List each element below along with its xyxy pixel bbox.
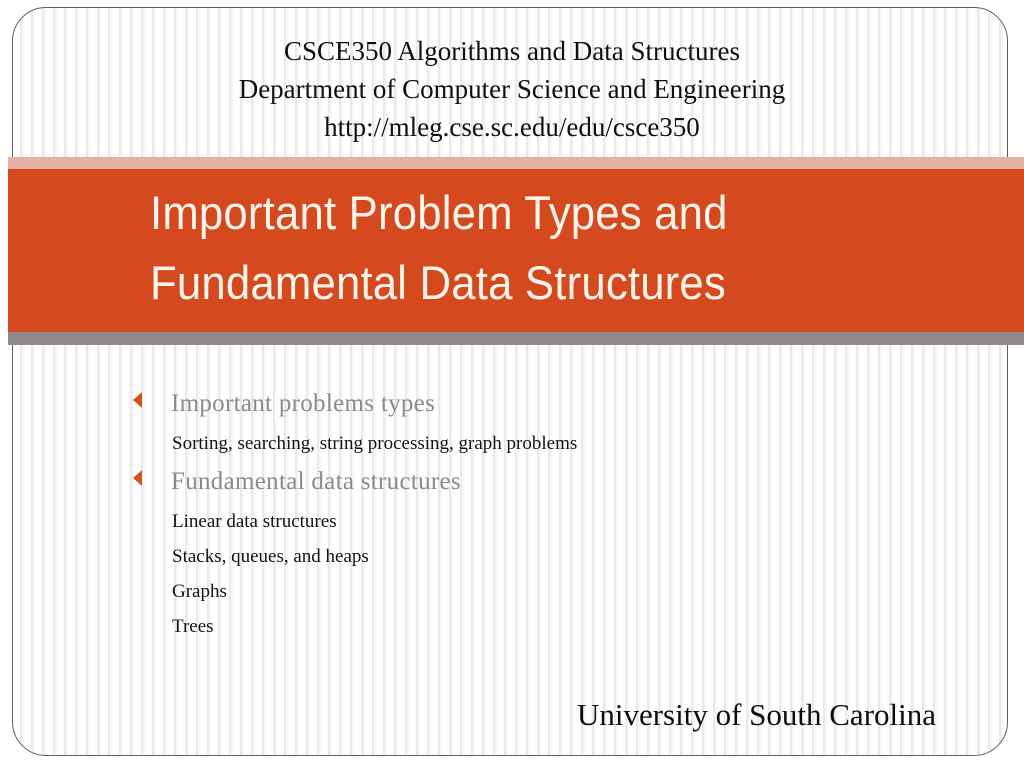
list-item: Graphs [0, 575, 1024, 608]
list-item: Trees [0, 610, 1024, 643]
header-line-department: Department of Computer Science and Engin… [0, 70, 1024, 108]
list-item: Stacks, queues, and heaps [0, 540, 1024, 573]
bullet-label: Fundamental data structures [171, 462, 461, 502]
slide-body: Important problems types Sorting, search… [0, 384, 1024, 645]
list-item: Important problems types [0, 384, 1024, 426]
list-item: Sorting, searching, string processing, g… [0, 427, 1024, 460]
header-line-course: CSCE350 Algorithms and Data Structures [0, 32, 1024, 70]
header-line-url: http://mleg.cse.sc.edu/edu/csce350 [0, 108, 1024, 146]
bullet-label: Sorting, searching, string processing, g… [172, 427, 577, 460]
bullet-label: Trees [172, 610, 214, 643]
slide-header: CSCE350 Algorithms and Data Structures D… [0, 32, 1024, 146]
title-banner-shadow-strip [8, 332, 1024, 345]
bullet-label: Stacks, queues, and heaps [172, 540, 369, 573]
slide-title: Important Problem Types and Fundamental … [150, 178, 1010, 318]
slide-title-line-2: Fundamental Data Structures [150, 248, 950, 318]
presentation-slide: CSCE350 Algorithms and Data Structures D… [0, 0, 1024, 768]
bullet-label: Important problems types [171, 384, 435, 424]
title-banner-accent-strip [8, 157, 1024, 169]
slide-footer: University of South Carolina [0, 694, 992, 736]
list-item: Fundamental data structures [0, 462, 1024, 504]
left-triangle-bullet-icon [133, 461, 171, 501]
bullet-label: Graphs [172, 575, 227, 608]
left-triangle-bullet-icon [133, 383, 171, 423]
slide-title-line-1: Important Problem Types and [150, 178, 950, 248]
footer-institution-label: University of South Carolina [0, 694, 992, 736]
list-item: Linear data structures [0, 505, 1024, 538]
bullet-label: Linear data structures [172, 505, 337, 538]
